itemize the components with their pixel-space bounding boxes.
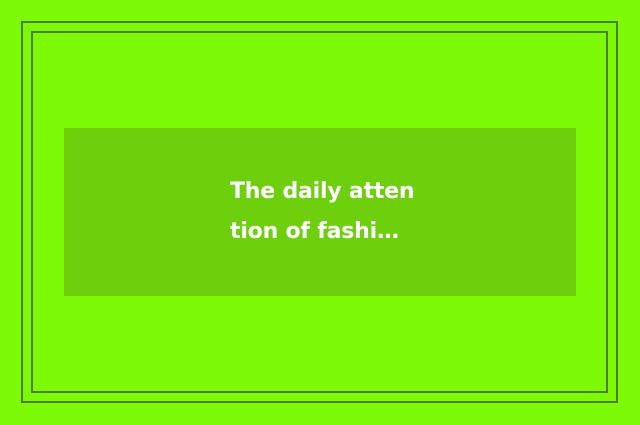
body-text-line-1: The daily atten (230, 172, 414, 212)
body-text-line-2: tion of fashi… (230, 212, 399, 252)
content-panel: The daily atten tion of fashi… (64, 128, 576, 296)
slide-canvas: The daily atten tion of fashi… (0, 0, 640, 425)
